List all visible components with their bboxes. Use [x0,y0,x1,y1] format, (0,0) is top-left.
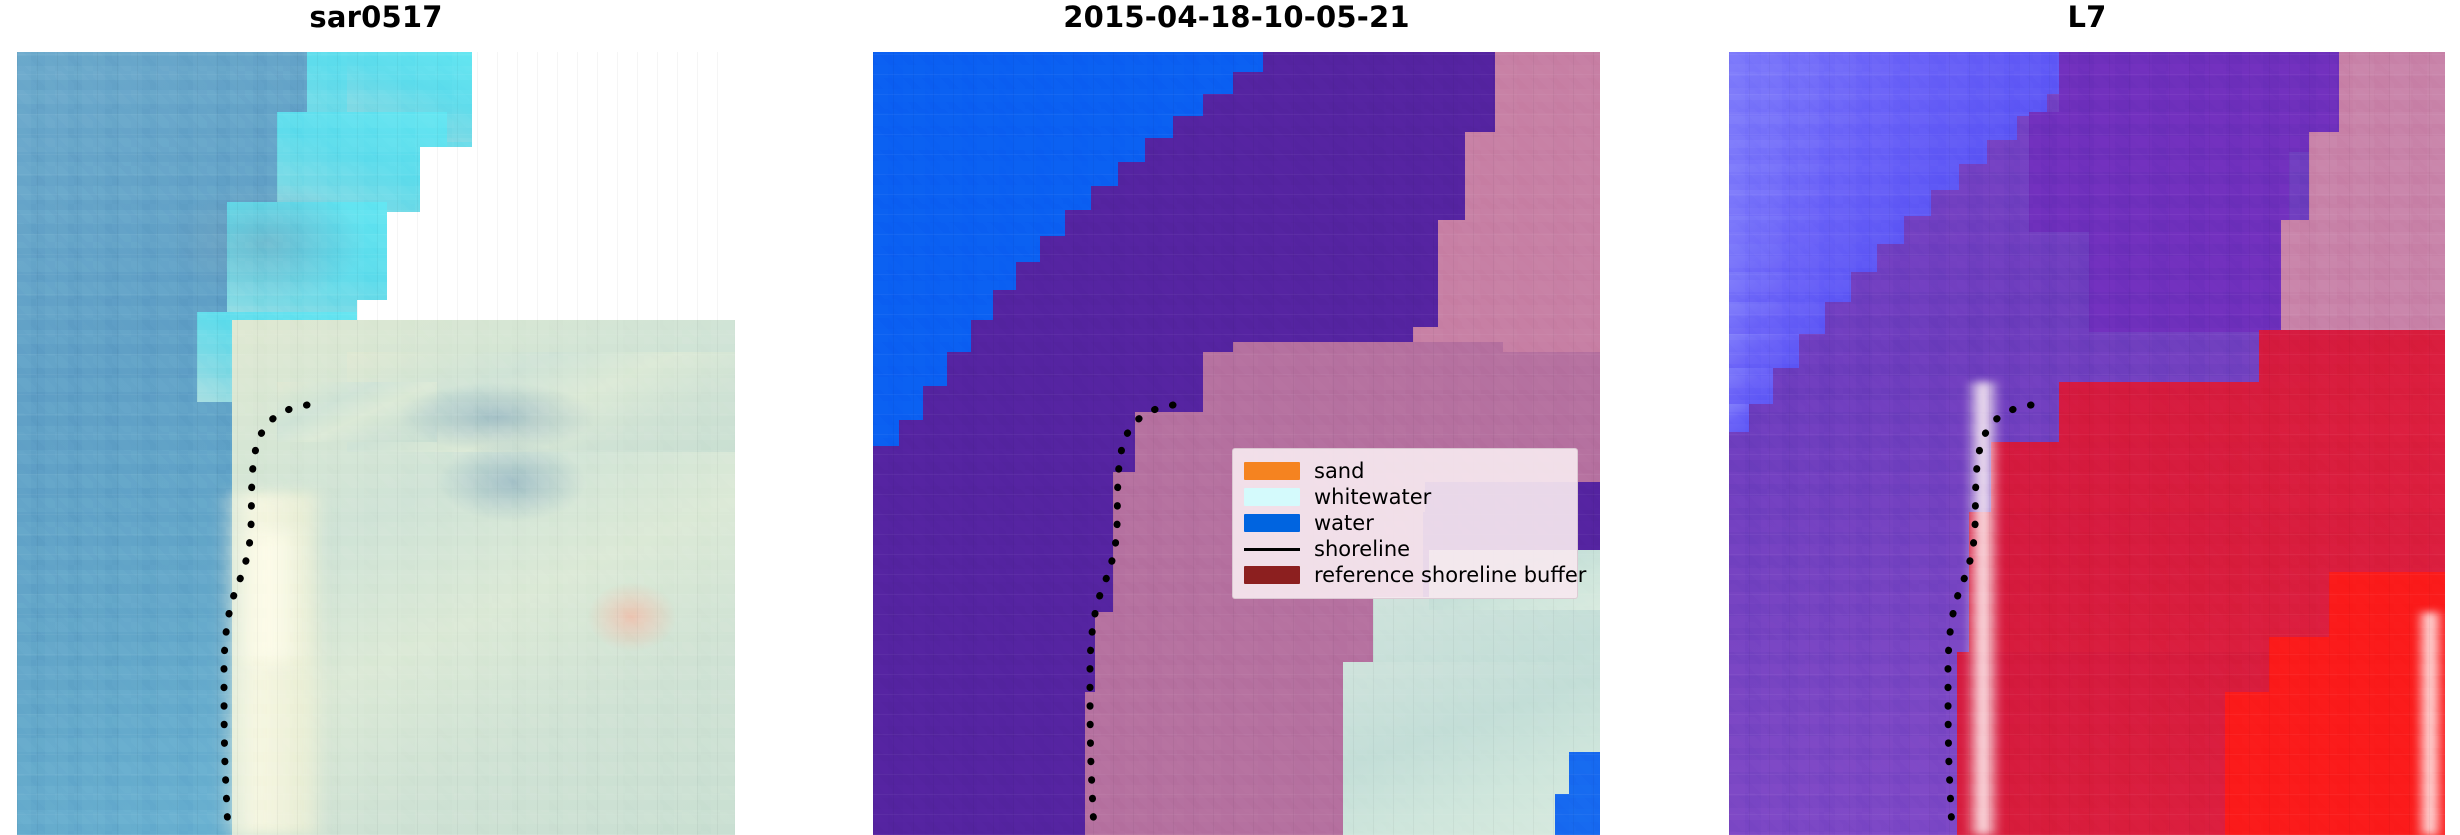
legend-box: sand whitewater water shoreline referenc… [1232,448,1578,599]
panel-1-title: sar0517 [17,0,735,34]
legend-label-whitewater: whitewater [1314,484,1431,510]
shoreline-line-swatch [1244,540,1300,558]
panel-3-image [1729,52,2445,835]
legend-item-reference-buffer: reference shoreline buffer [1244,562,1565,588]
legend-label-reference-buffer: reference shoreline buffer [1314,562,1586,588]
whitewater-swatch [1244,488,1300,506]
legend-item-whitewater: whitewater [1244,484,1565,510]
panel-index: L7 [1729,0,2445,835]
legend-label-sand: sand [1314,458,1364,484]
legend-item-shoreline: shoreline [1244,536,1565,562]
panel-classification: 2015-04-18-10-05-21 [873,0,1600,835]
panel-1-image [17,52,735,835]
reference-buffer-swatch [1244,566,1300,584]
figure-canvas: sar0517 [0,0,2460,835]
legend-item-water: water [1244,510,1565,536]
panel-2-image [873,52,1600,835]
panel-3-title: L7 [1729,0,2445,34]
legend-label-shoreline: shoreline [1314,536,1410,562]
panel-2-title: 2015-04-18-10-05-21 [873,0,1600,34]
panel-sar0517: sar0517 [17,0,735,835]
sand-swatch [1244,462,1300,480]
raster-noise [17,52,735,835]
legend-item-sand: sand [1244,458,1565,484]
raster-noise [1729,52,2445,835]
raster-noise [873,52,1600,835]
legend-label-water: water [1314,510,1374,536]
water-swatch [1244,514,1300,532]
